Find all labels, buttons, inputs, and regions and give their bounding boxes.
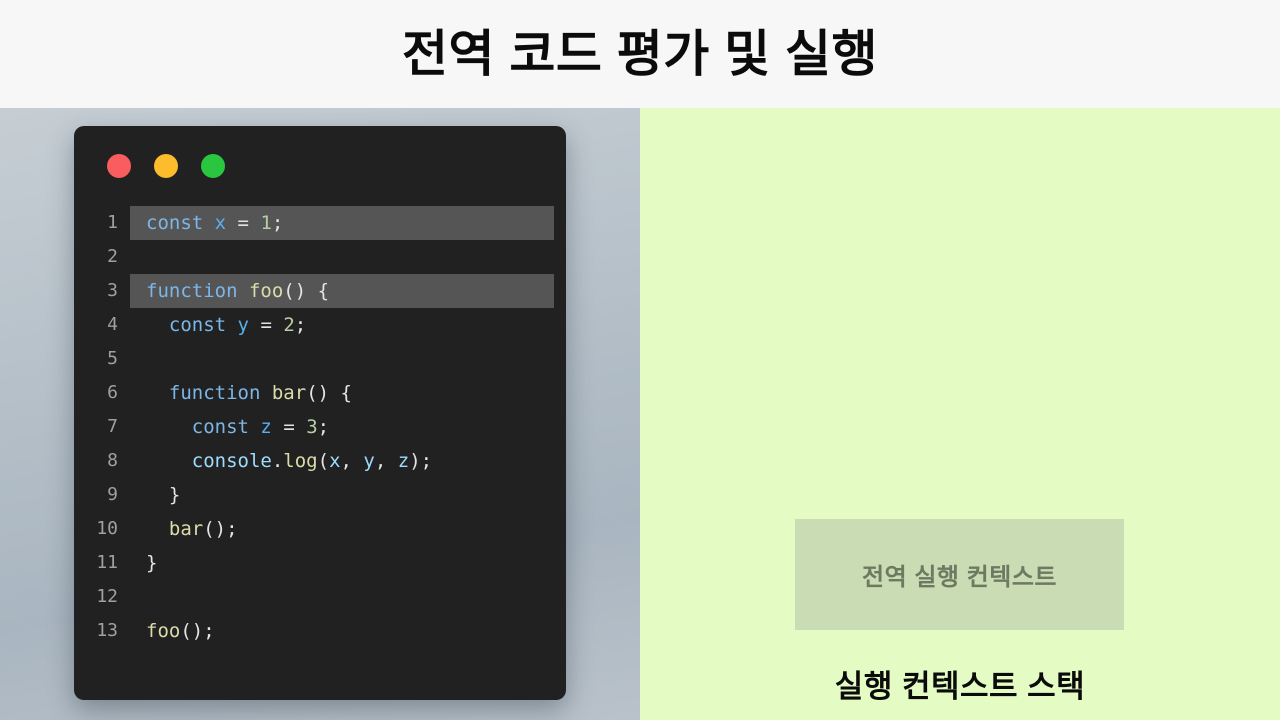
code-line[interactable]: 13foo(); [74,614,566,648]
code-line-text: bar(); [130,512,566,546]
code-line-text [130,240,566,274]
code-token: foo [146,614,180,648]
editor-titlebar [74,126,566,206]
code-token: = [272,410,306,444]
stack-frame-global: 전역 실행 컨텍스트 [795,519,1124,630]
code-line-text: console.log(x, y, z); [130,444,566,478]
code-token: ); [409,444,432,478]
code-line[interactable]: 6 function bar() { [74,376,566,410]
code-token: = [226,206,260,240]
code-line[interactable]: 5 [74,342,566,376]
code-token: ( [318,444,329,478]
code-line[interactable]: 8 console.log(x, y, z); [74,444,566,478]
line-number: 10 [74,512,130,546]
line-number: 9 [74,478,130,512]
code-token: console [192,444,272,478]
line-number: 11 [74,546,130,580]
code-token [146,308,169,342]
code-line-text: foo(); [130,614,566,648]
code-line[interactable]: 7 const z = 3; [74,410,566,444]
line-number: 3 [74,274,130,308]
line-number: 12 [74,580,130,614]
code-line[interactable]: 2 [74,240,566,274]
stack-caption: 실행 컨텍스트 스택 [640,661,1280,706]
code-line-text [130,580,566,614]
code-token: (); [180,614,214,648]
code-token: } [146,546,157,580]
code-line-text [130,342,566,376]
code-token [146,410,192,444]
code-token: , [375,444,398,478]
code-token: ; [318,410,329,444]
line-number: 4 [74,308,130,342]
code-token: (); [203,512,237,546]
code-line-text: function foo() { [130,274,554,308]
code-line-text: function bar() { [130,376,566,410]
code-token [226,308,237,342]
code-token: x [215,206,226,240]
content-stage: 1const x = 1;23function foo() {4 const y… [0,108,1280,720]
code-line[interactable]: 10 bar(); [74,512,566,546]
code-token [260,376,271,410]
code-token: x [329,444,340,478]
code-token: 3 [306,410,317,444]
right-pane: 전역 실행 컨텍스트 실행 컨텍스트 스택 [640,108,1280,720]
code-token: 2 [283,308,294,342]
code-token [146,512,169,546]
close-icon[interactable] [107,154,131,178]
code-token: function [146,274,238,308]
code-token: ; [295,308,306,342]
code-line-text: const z = 3; [130,410,566,444]
code-token: () { [283,274,329,308]
code-token: = [249,308,283,342]
code-line-text: } [130,478,566,512]
code-line[interactable]: 11} [74,546,566,580]
code-token: foo [249,274,283,308]
code-token: const [169,308,226,342]
stack-frame-label: 전역 실행 컨텍스트 [862,557,1057,592]
minimize-icon[interactable] [154,154,178,178]
code-editor-window: 1const x = 1;23function foo() {4 const y… [74,126,566,700]
code-token: bar [272,376,306,410]
header-bar: 전역 코드 평가 및 실행 [0,0,1280,108]
line-number: 13 [74,614,130,648]
code-line[interactable]: 3function foo() { [74,274,566,308]
code-token: z [260,410,271,444]
maximize-icon[interactable] [201,154,225,178]
code-token [249,410,260,444]
page-title: 전역 코드 평가 및 실행 [402,29,878,79]
line-number: 7 [74,410,130,444]
code-line-text: } [130,546,566,580]
code-line[interactable]: 9 } [74,478,566,512]
code-token: ; [272,206,283,240]
code-line[interactable]: 4 const y = 2; [74,308,566,342]
code-token [146,444,192,478]
code-token: , [341,444,364,478]
line-number: 6 [74,376,130,410]
line-number: 2 [74,240,130,274]
code-token: const [192,410,249,444]
code-token: bar [169,512,203,546]
code-editor-content[interactable]: 1const x = 1;23function foo() {4 const y… [74,206,566,700]
code-line-text: const y = 2; [130,308,566,342]
code-token: const [146,206,203,240]
code-line-text: const x = 1; [130,206,554,240]
code-token: () { [306,376,352,410]
code-token [146,376,169,410]
code-token [203,206,214,240]
line-number: 5 [74,342,130,376]
code-token: . [272,444,283,478]
code-line[interactable]: 12 [74,580,566,614]
code-token: function [169,376,261,410]
line-number: 1 [74,206,130,240]
code-token: z [398,444,409,478]
slide-root: 전역 코드 평가 및 실행 1const x = 1;23function fo… [0,0,1280,720]
line-number: 8 [74,444,130,478]
code-token: 1 [260,206,271,240]
code-line[interactable]: 1const x = 1; [74,206,566,240]
code-token: } [146,478,180,512]
code-token [238,274,249,308]
code-token: y [363,444,374,478]
code-token: log [283,444,317,478]
code-token: y [238,308,249,342]
left-pane: 1const x = 1;23function foo() {4 const y… [0,108,640,720]
